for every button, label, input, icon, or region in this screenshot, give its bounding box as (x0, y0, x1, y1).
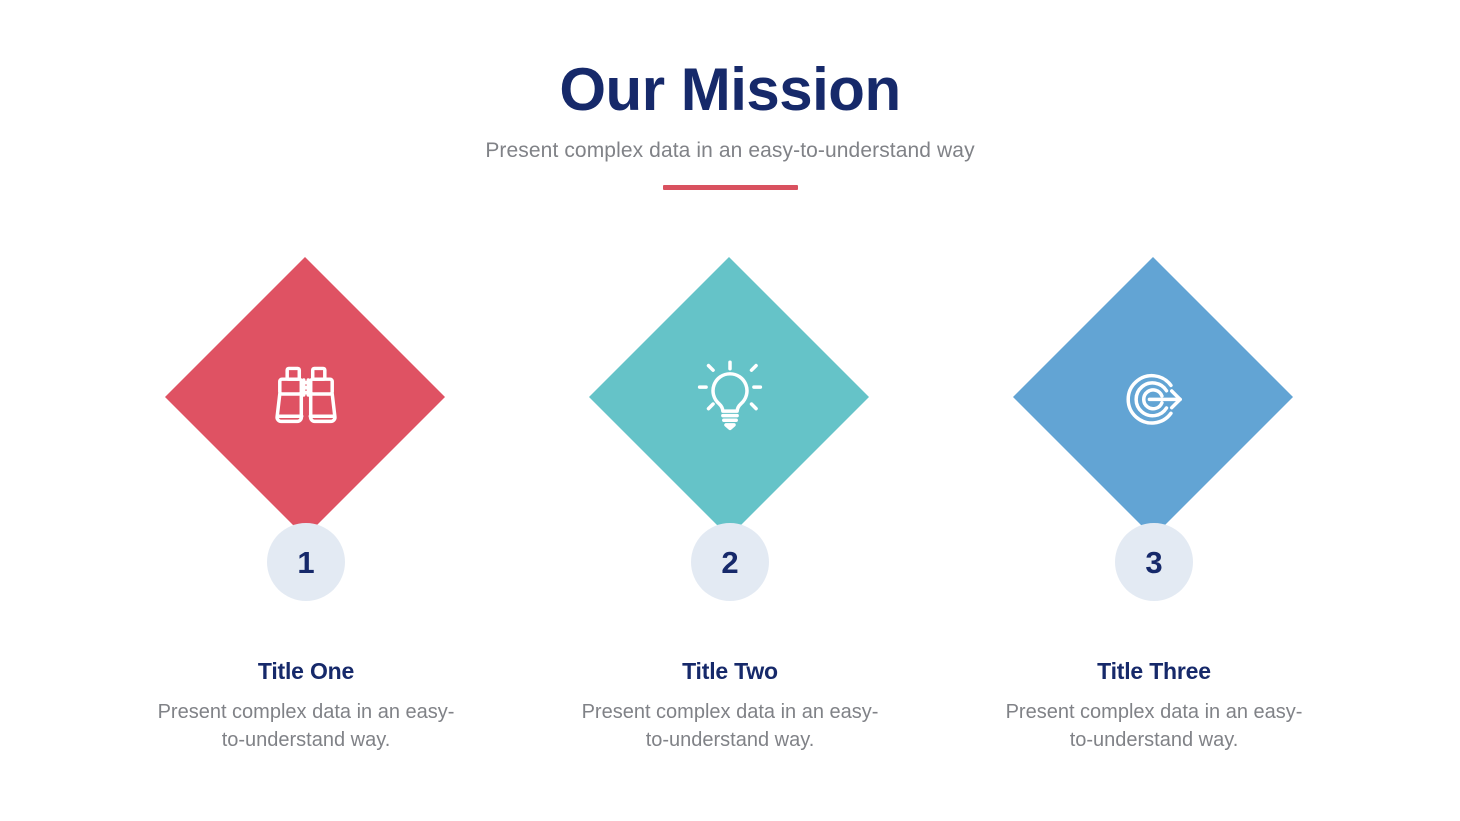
step-number-1: 1 (297, 547, 314, 578)
caption-title-3: Title Three (964, 658, 1344, 685)
target-icon (1108, 352, 1200, 444)
caption-body-1: Present complex data in an easy-to-under… (116, 698, 496, 755)
diamond-wrap-3 (1014, 258, 1294, 538)
step-number-badge-1: 1 (267, 523, 345, 601)
caption-1: Title One Present complex data in an eas… (116, 658, 496, 755)
mission-column-1[interactable]: 1 Title One Present complex data in an e… (94, 258, 518, 755)
diamond-wrap-2 (590, 258, 870, 538)
caption-title-1: Title One (116, 658, 496, 685)
step-number-badge-3: 3 (1115, 523, 1193, 601)
slide-canvas: Our Mission Present complex data in an e… (0, 0, 1460, 821)
title-divider (663, 185, 798, 190)
lightbulb-icon (684, 352, 776, 444)
step-number-2: 2 (721, 547, 738, 578)
mission-column-3[interactable]: 3 Title Three Present complex data in an… (942, 258, 1366, 755)
mission-column-2[interactable]: 2 Title Two Present complex data in an e… (518, 258, 942, 755)
caption-body-3: Present complex data in an easy-to-under… (964, 698, 1344, 755)
diamond-wrap-1 (166, 258, 446, 538)
caption-3: Title Three Present complex data in an e… (964, 658, 1344, 755)
step-number-badge-2: 2 (691, 523, 769, 601)
page-title: Our Mission (0, 58, 1460, 121)
step-number-3: 3 (1145, 547, 1162, 578)
caption-title-2: Title Two (540, 658, 920, 685)
caption-body-2: Present complex data in an easy-to-under… (540, 698, 920, 755)
binoculars-icon (260, 352, 352, 444)
caption-2: Title Two Present complex data in an eas… (540, 658, 920, 755)
slide-header: Our Mission Present complex data in an e… (0, 58, 1460, 190)
mission-columns: 1 Title One Present complex data in an e… (0, 258, 1460, 755)
page-subtitle: Present complex data in an easy-to-under… (0, 139, 1460, 163)
